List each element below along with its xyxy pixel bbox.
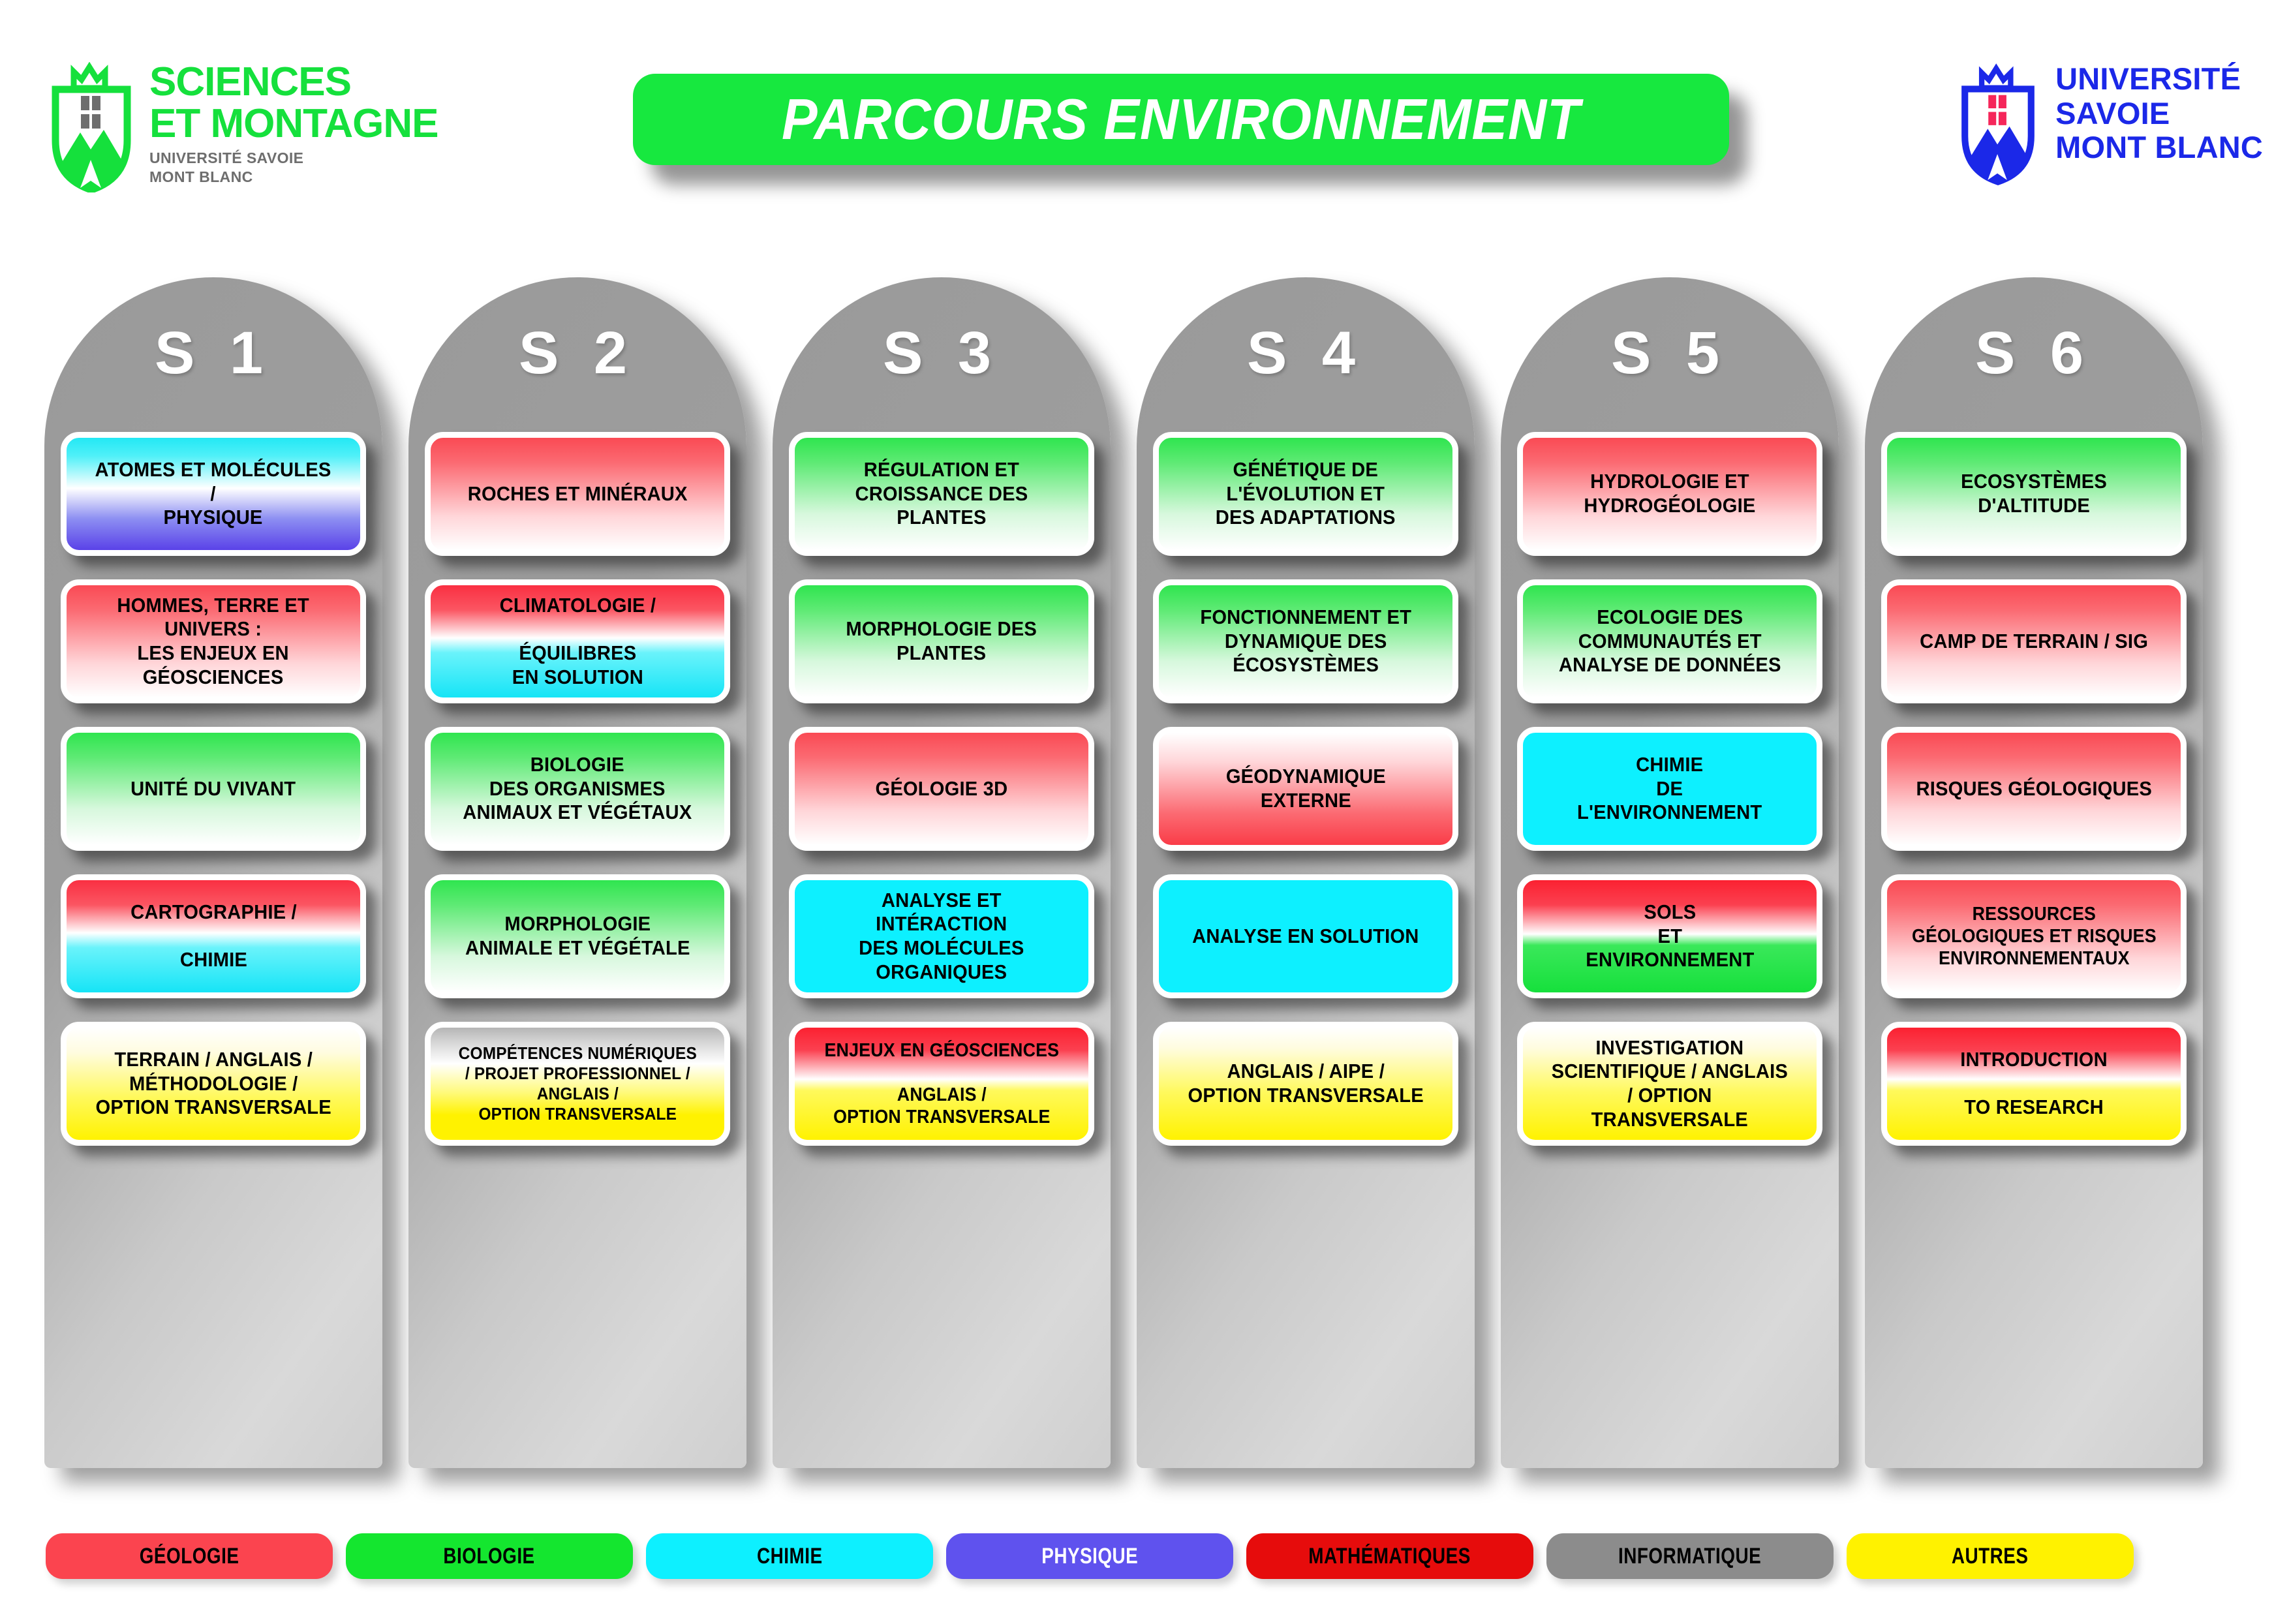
course-card[interactable]: ANGLAIS / AIPE / OPTION TRANSVERSALE — [1153, 1022, 1458, 1146]
legend-item-label: PHYSIQUE — [1041, 1544, 1138, 1569]
legend-item-label: BIOLOGIE — [444, 1544, 535, 1569]
legend-item-label: CHIMIE — [757, 1544, 823, 1569]
course-card-label: GÉOLOGIE 3D — [869, 773, 1014, 805]
course-card-label: ANGLAIS / AIPE / OPTION TRANSVERSALE — [1182, 1056, 1430, 1111]
course-card-label: TERRAIN / ANGLAIS / MÉTHODOLOGIE / OPTIO… — [89, 1044, 337, 1124]
semester-column-s6: S 6ECOSYSTÈMES D'ALTITUDECAMP DE TERRAIN… — [1865, 277, 2203, 1468]
semester-column-s5: S 5HYDROLOGIE ET HYDROGÉOLOGIEECOLOGIE D… — [1501, 277, 1839, 1468]
course-card[interactable]: RÉGULATION ET CROISSANCE DES PLANTES — [789, 432, 1094, 556]
course-card-list: HYDROLOGIE ET HYDROGÉOLOGIEECOLOGIE DES … — [1517, 432, 1822, 1169]
semester-label-s6: S 6 — [1865, 319, 2203, 388]
course-card[interactable]: SOLS ET ENVIRONNEMENT — [1517, 874, 1822, 998]
logo-sub-universite: UNIVERSITÉ SAVOIE — [149, 149, 438, 168]
course-card-label: ECOSYSTÈMES D'ALTITUDE — [1955, 466, 2113, 521]
legend-item-mathmatiques[interactable]: MATHÉMATIQUES — [1246, 1533, 1533, 1579]
legend-item-informatique[interactable]: INFORMATIQUE — [1546, 1533, 1834, 1579]
sciences-montagne-crest-icon — [49, 62, 134, 192]
legend-item-label: MATHÉMATIQUES — [1309, 1544, 1471, 1569]
course-card[interactable]: FONCTIONNEMENT ET DYNAMIQUE DES ÉCOSYSTÈ… — [1153, 579, 1458, 703]
legend-item-gologie[interactable]: GÉOLOGIE — [46, 1533, 333, 1579]
course-card-label: HOMMES, TERRE ET UNIVERS : LES ENJEUX EN… — [111, 590, 315, 693]
course-card[interactable]: UNITÉ DU VIVANT — [61, 727, 366, 851]
semester-column-s3: S 3RÉGULATION ET CROISSANCE DES PLANTESM… — [773, 277, 1111, 1468]
legend-item-label: INFORMATIQUE — [1618, 1544, 1761, 1569]
course-card-label: ANALYSE ET INTÉRACTION DES MOLÉCULES ORG… — [853, 885, 1030, 988]
course-card[interactable]: HOMMES, TERRE ET UNIVERS : LES ENJEUX EN… — [61, 579, 366, 703]
course-card[interactable]: COMPÉTENCES NUMÉRIQUES / PROJET PROFESSI… — [425, 1022, 730, 1146]
course-card[interactable]: GÉOLOGIE 3D — [789, 727, 1094, 851]
course-card[interactable]: INVESTIGATION SCIENTIFIQUE / ANGLAIS / O… — [1517, 1022, 1822, 1146]
semester-label-s3: S 3 — [773, 319, 1111, 388]
course-card-label: CAMP DE TERRAIN / SIG — [1914, 626, 2155, 658]
course-card-list: ROCHES ET MINÉRAUXCLIMATOLOGIE / ÉQUILIB… — [425, 432, 730, 1169]
course-card-label: RISQUES GÉOLOGIQUES — [1910, 773, 2158, 805]
legend-item-physique[interactable]: PHYSIQUE — [946, 1533, 1233, 1579]
logo-line-montagne: ET MONTAGNE — [149, 102, 438, 145]
course-card-label: COMPÉTENCES NUMÉRIQUES / PROJET PROFESSI… — [452, 1039, 703, 1129]
course-card-label: ECOLOGIE DES COMMUNAUTÉS ET ANALYSE DE D… — [1552, 602, 1787, 681]
course-card-label: ROCHES ET MINÉRAUX — [461, 478, 694, 510]
course-card-label: FONCTIONNEMENT ET DYNAMIQUE DES ÉCOSYSTÈ… — [1194, 602, 1418, 681]
course-card[interactable]: CARTOGRAPHIE / CHIMIE — [61, 874, 366, 998]
course-card[interactable]: MORPHOLOGIE DES PLANTES — [789, 579, 1094, 703]
course-card[interactable]: CHIMIE DE L'ENVIRONNEMENT — [1517, 727, 1822, 851]
semester-label-s2: S 2 — [408, 319, 746, 388]
usmb-line-universite: UNIVERSITÉ — [2055, 62, 2263, 97]
legend-item-label: GÉOLOGIE — [140, 1544, 239, 1569]
sciences-et-montagne-logo: SCIENCES ET MONTAGNE UNIVERSITÉ SAVOIE M… — [49, 62, 438, 192]
course-card[interactable]: RESSOURCES GÉOLOGIQUES ET RISQUES ENVIRO… — [1881, 874, 2187, 998]
course-card[interactable]: ECOSYSTÈMES D'ALTITUDE — [1881, 432, 2187, 556]
course-card[interactable]: ENJEUX EN GÉOSCIENCES ANGLAIS / OPTION T… — [789, 1022, 1094, 1146]
course-card[interactable]: GÉODYNAMIQUE EXTERNE — [1153, 727, 1458, 851]
course-card[interactable]: TERRAIN / ANGLAIS / MÉTHODOLOGIE / OPTIO… — [61, 1022, 366, 1146]
course-card[interactable]: MORPHOLOGIE ANIMALE ET VÉGÉTALE — [425, 874, 730, 998]
usmb-crest-icon — [1959, 62, 2037, 186]
course-card-label: MORPHOLOGIE DES PLANTES — [840, 613, 1043, 669]
course-card-label: ENJEUX EN GÉOSCIENCES ANGLAIS / OPTION T… — [818, 1035, 1066, 1133]
semester-column-s4: S 4GÉNÉTIQUE DE L'ÉVOLUTION ET DES ADAPT… — [1137, 277, 1475, 1468]
course-card-label: ATOMES ET MOLÉCULES / PHYSIQUE — [89, 454, 338, 534]
page-header: SCIENCES ET MONTAGNE UNIVERSITÉ SAVOIE M… — [0, 0, 2289, 235]
usmb-line-savoie: SAVOIE — [2055, 97, 2263, 131]
semester-label-s1: S 1 — [44, 319, 382, 388]
course-card-label: BIOLOGIE DES ORGANISMES ANIMAUX ET VÉGÉT… — [457, 749, 698, 829]
course-card[interactable]: ECOLOGIE DES COMMUNAUTÉS ET ANALYSE DE D… — [1517, 579, 1822, 703]
legend-item-chimie[interactable]: CHIMIE — [646, 1533, 933, 1579]
semester-board: S 1ATOMES ET MOLÉCULES / PHYSIQUEHOMMES,… — [0, 277, 2289, 1491]
course-card-list: ECOSYSTÈMES D'ALTITUDECAMP DE TERRAIN / … — [1881, 432, 2187, 1169]
course-card-label: CARTOGRAPHIE / CHIMIE — [124, 896, 302, 976]
discipline-legend: GÉOLOGIEBIOLOGIECHIMIEPHYSIQUEMATHÉMATIQ… — [0, 1533, 2289, 1602]
course-card[interactable]: GÉNÉTIQUE DE L'ÉVOLUTION ET DES ADAPTATI… — [1153, 432, 1458, 556]
course-card-label: INTRODUCTION TO RESEARCH — [1954, 1044, 2113, 1124]
course-card-label: GÉODYNAMIQUE EXTERNE — [1220, 761, 1392, 816]
page-title: PARCOURS ENVIRONNEMENT — [782, 86, 1580, 153]
course-card-label: UNITÉ DU VIVANT — [125, 773, 302, 805]
legend-item-label: AUTRES — [1952, 1544, 2029, 1569]
course-card[interactable]: ROCHES ET MINÉRAUX — [425, 432, 730, 556]
course-card[interactable]: RISQUES GÉOLOGIQUES — [1881, 727, 2187, 851]
logo-line-sciences: SCIENCES — [149, 62, 438, 102]
course-card-list: ATOMES ET MOLÉCULES / PHYSIQUEHOMMES, TE… — [61, 432, 366, 1169]
course-card[interactable]: CAMP DE TERRAIN / SIG — [1881, 579, 2187, 703]
course-card-label: RÉGULATION ET CROISSANCE DES PLANTES — [849, 454, 1034, 534]
course-card-list: RÉGULATION ET CROISSANCE DES PLANTESMORP… — [789, 432, 1094, 1169]
course-card-label: ANALYSE EN SOLUTION — [1186, 921, 1425, 953]
legend-item-autres[interactable]: AUTRES — [1847, 1533, 2134, 1579]
course-card[interactable]: INTRODUCTION TO RESEARCH — [1881, 1022, 2187, 1146]
course-card-label: CLIMATOLOGIE / ÉQUILIBRES EN SOLUTION — [493, 590, 662, 693]
legend-item-biologie[interactable]: BIOLOGIE — [346, 1533, 633, 1579]
course-card-label: INVESTIGATION SCIENTIFIQUE / ANGLAIS / O… — [1545, 1032, 1794, 1135]
course-card[interactable]: ATOMES ET MOLÉCULES / PHYSIQUE — [61, 432, 366, 556]
logo-sub-montblanc: MONT BLANC — [149, 168, 438, 187]
semester-column-s2: S 2ROCHES ET MINÉRAUXCLIMATOLOGIE / ÉQUI… — [408, 277, 746, 1468]
semester-label-s5: S 5 — [1501, 319, 1839, 388]
course-card[interactable]: HYDROLOGIE ET HYDROGÉOLOGIE — [1517, 432, 1822, 556]
course-card[interactable]: ANALYSE ET INTÉRACTION DES MOLÉCULES ORG… — [789, 874, 1094, 998]
course-card[interactable]: CLIMATOLOGIE / ÉQUILIBRES EN SOLUTION — [425, 579, 730, 703]
course-card-list: GÉNÉTIQUE DE L'ÉVOLUTION ET DES ADAPTATI… — [1153, 432, 1458, 1169]
course-card[interactable]: ANALYSE EN SOLUTION — [1153, 874, 1458, 998]
course-card[interactable]: BIOLOGIE DES ORGANISMES ANIMAUX ET VÉGÉT… — [425, 727, 730, 851]
course-card-label: GÉNÉTIQUE DE L'ÉVOLUTION ET DES ADAPTATI… — [1210, 454, 1402, 534]
semester-label-s4: S 4 — [1137, 319, 1475, 388]
usmb-line-montblanc: MONT BLANC — [2055, 130, 2263, 165]
course-card-label: HYDROLOGIE ET HYDROGÉOLOGIE — [1578, 466, 1762, 521]
course-card-label: MORPHOLOGIE ANIMALE ET VÉGÉTALE — [459, 908, 696, 964]
course-card-label: SOLS ET ENVIRONNEMENT — [1579, 896, 1760, 976]
course-card-label: RESSOURCES GÉOLOGIQUES ET RISQUES ENVIRO… — [1905, 899, 2162, 974]
semester-column-s1: S 1ATOMES ET MOLÉCULES / PHYSIQUEHOMMES,… — [44, 277, 382, 1468]
usmb-logo: UNIVERSITÉ SAVOIE MONT BLANC — [1959, 62, 2263, 186]
course-card-label: CHIMIE DE L'ENVIRONNEMENT — [1571, 749, 1768, 829]
page-title-banner: PARCOURS ENVIRONNEMENT — [633, 74, 1729, 165]
